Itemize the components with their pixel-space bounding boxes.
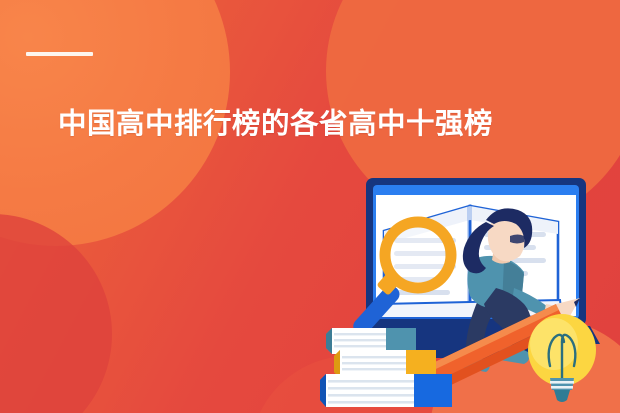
accent-rule xyxy=(26,52,93,56)
light-bulb-icon xyxy=(528,314,596,402)
poster-canvas: 中国高中排行榜的各省高中十强榜 xyxy=(0,0,620,413)
study-research-illustration xyxy=(318,176,620,413)
page-title: 中国高中排行榜的各省高中十强榜 xyxy=(58,104,493,144)
